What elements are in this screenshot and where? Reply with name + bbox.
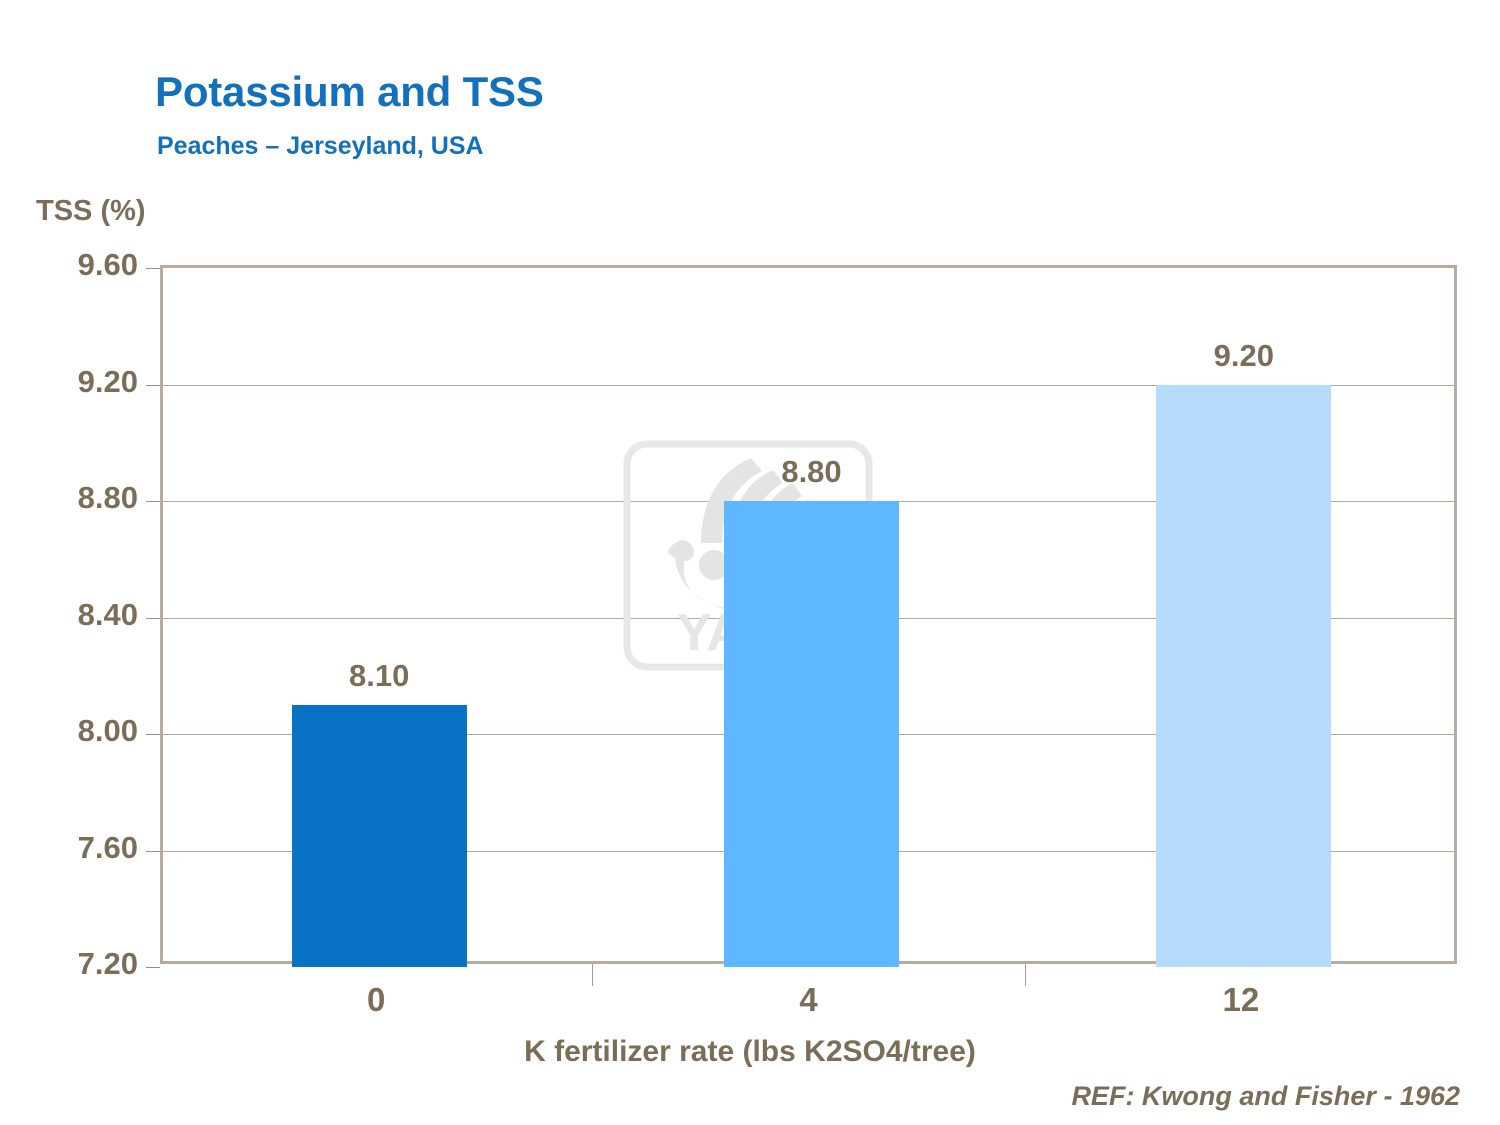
y-tick-label: 9.60 [78,247,138,283]
y-tick-mark [146,618,160,619]
y-tick-mark [146,385,160,386]
y-axis-label: TSS (%) [36,195,146,228]
chart-title: Potassium and TSS [155,68,544,116]
y-tick-label: 9.20 [78,364,138,400]
y-tick-label: 7.60 [78,830,138,866]
x-axis-label: K fertilizer rate (lbs K2SO4/tree) [0,1035,1500,1069]
y-axis-ticks: 7.207.608.008.408.809.209.60 [26,265,138,964]
x-tick-label-4: 4 [799,981,817,1019]
plot-area: YARA 8.108.809.20 [160,265,1457,964]
y-tick-label: 8.00 [78,713,138,749]
y-tick-label: 8.40 [78,597,138,633]
y-tick-mark [146,734,160,735]
y-tick-mark [146,501,160,502]
y-tick-label: 8.80 [78,480,138,516]
bar-4[interactable] [724,501,899,967]
bar-0[interactable] [292,705,467,967]
y-tick-mark [146,268,160,269]
chart-canvas: Potassium and TSS Peaches – Jerseyland, … [0,0,1500,1125]
y-tick-label: 7.20 [78,946,138,982]
x-tick-separator [1025,964,1026,986]
x-tick-label-0: 0 [367,981,385,1019]
bar-value-label: 8.80 [781,454,841,490]
bar-value-label: 8.10 [349,658,409,694]
reference-note: REF: Kwong and Fisher - 1962 [1071,1081,1460,1112]
bar-12[interactable] [1156,385,1331,968]
chart-subtitle: Peaches – Jerseyland, USA [157,132,484,161]
x-tick-label-12: 12 [1222,981,1259,1019]
y-tick-mark [146,851,160,852]
x-tick-separator [592,964,593,986]
bar-value-label: 9.20 [1214,338,1274,374]
y-tick-mark [146,967,160,968]
